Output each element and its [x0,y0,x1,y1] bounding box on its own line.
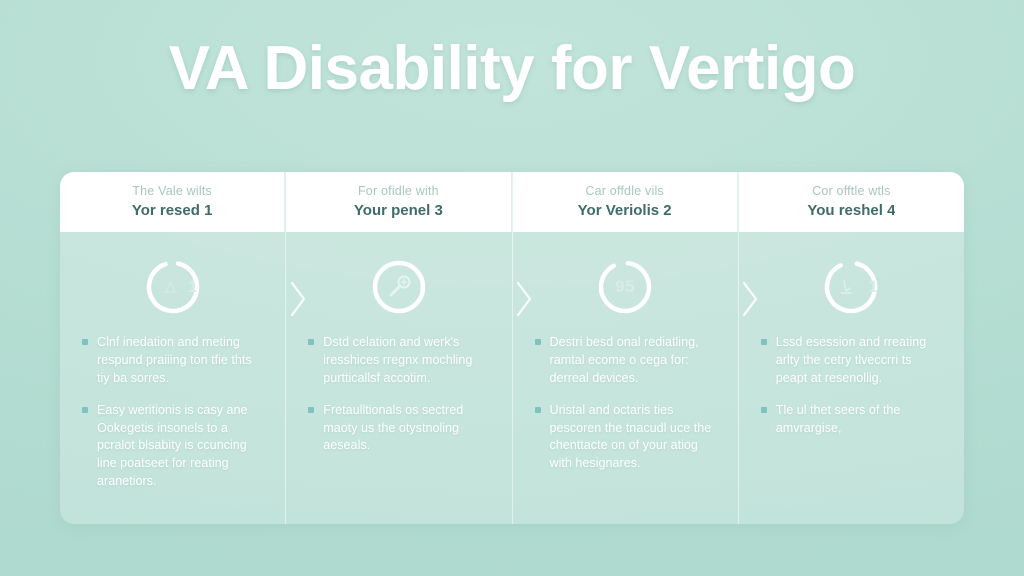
column-4-body: 1 Lssd esession and rreating arlty the c… [739,232,964,524]
bullet-item: Uristal and octaris ties pescoren the tn… [535,402,716,474]
column-4-header: Cor offtle wtls You reshel 4 [739,172,964,232]
column-3-body: 95 Destri besd onal rediatling, ramtal e… [513,232,738,524]
bullet-item: Destri besd onal rediatling, ramtal ecom… [535,334,716,388]
bullet-item: Dstd celation and werk's iresshices rreg… [308,334,489,388]
column-4-bullet-list: Lssd esession and rreating arlty the cet… [761,334,942,437]
column-3-heading: Yor Veriolis 2 [578,202,672,220]
progress-ring-icon: 95 [596,258,654,316]
bullet-text: Clnf inedation and meting respund praiii… [97,335,252,385]
column-3-header: Car offdle vils Yor Veriolis 2 [513,172,738,232]
bullet-item: Fretaulltionals os sectred maoty us the … [308,402,489,456]
column-4-heading: You reshel 4 [807,202,895,220]
column-1-bullet-list: Clnf inedation and meting respund praiii… [82,334,263,491]
column-2-heading: Your penel 3 [354,202,443,220]
bullet-dot-icon [535,407,541,413]
column-1-body: 1 Clnf inedation and meting respund prai… [60,232,285,524]
probe-magnifier-icon [370,258,428,316]
bullet-item: Easy weritionis is casy ane Ookegetis in… [82,402,263,491]
column-3-eyebrow: Car offdle vils [585,184,664,199]
slide-canvas: VA Disability for Vertigo The Vale wilts… [0,0,1024,576]
ring-step-icon: 1 [822,258,880,316]
column-2-header: For ofidle with Your penel 3 [286,172,511,232]
bullet-dot-icon [535,339,541,345]
column-1-header: The Vale wilts Yor resed 1 [60,172,285,232]
comparison-board: The Vale wilts Yor resed 1 1 Clnf inedat… [60,172,964,524]
bullet-text: Easy weritionis is casy ane Ookegetis in… [97,403,248,489]
column-1-eyebrow: The Vale wilts [132,184,212,199]
bullet-dot-icon [761,407,767,413]
bullet-text: Destri besd onal rediatling, ramtal ecom… [550,335,699,385]
column-4[interactable]: Cor offtle wtls You reshel 4 1 Lssd eses… [739,172,964,524]
column-2-eyebrow: For ofidle with [358,184,439,199]
bullet-dot-icon [82,339,88,345]
column-3[interactable]: Car offdle vils Yor Veriolis 2 95 Destri… [513,172,739,524]
column-2-bullet-list: Dstd celation and werk's iresshices rreg… [308,334,489,455]
bullet-text: Uristal and octaris ties pescoren the tn… [550,403,712,471]
title-area: VA Disability for Vertigo [0,36,1024,101]
column-2[interactable]: For ofidle with Your penel 3 D [286,172,512,524]
bullet-text: Tle ul thet seers of the amvrargise, [776,403,901,435]
column-1-heading: Yor resed 1 [132,202,213,220]
bullet-item: Tle ul thet seers of the amvrargise, [761,402,942,438]
page-title: VA Disability for Vertigo [0,36,1024,101]
bullet-text: Lssd esession and rreating arlty the cet… [776,335,927,385]
column-3-bullet-list: Destri besd onal rediatling, ramtal ecom… [535,334,716,473]
bullet-item: Lssd esession and rreating arlty the cet… [761,334,942,388]
bullet-dot-icon [308,407,314,413]
bullet-dot-icon [82,407,88,413]
bullet-dot-icon [308,339,314,345]
bullet-text: Dstd celation and werk's iresshices rreg… [323,335,472,385]
ring-step-icon: 1 [144,258,202,316]
column-4-eyebrow: Cor offtle wtls [812,184,891,199]
bullet-item: Clnf inedation and meting respund praiii… [82,334,263,388]
bullet-dot-icon [761,339,767,345]
bullet-text: Fretaulltionals os sectred maoty us the … [323,403,463,453]
column-2-body: Dstd celation and werk's iresshices rreg… [286,232,511,524]
column-1[interactable]: The Vale wilts Yor resed 1 1 Clnf inedat… [60,172,286,524]
